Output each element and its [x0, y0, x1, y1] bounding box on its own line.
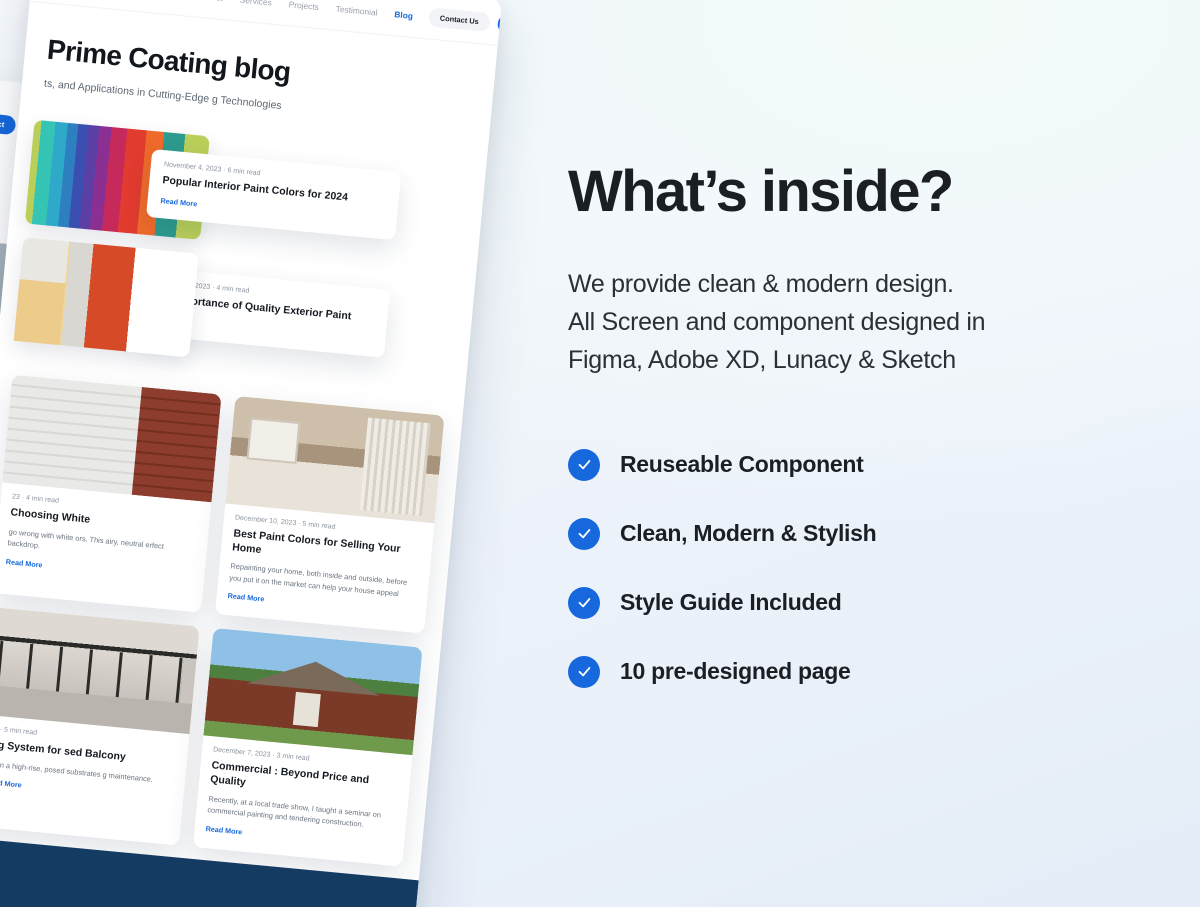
read-more-link[interactable]: Read More — [227, 591, 264, 603]
mockup-stage: Contact Us Book a Project 018 orings for — [0, 0, 530, 907]
feature-item-clean-modern-stylish: Clean, Modern & Stylish — [568, 518, 1168, 550]
nav-item-blog[interactable]: Blog — [394, 9, 413, 21]
copy-panel: What’s inside? We provide clean & modern… — [568, 162, 1168, 725]
read-more-link[interactable]: Read More — [6, 557, 43, 569]
headline: What’s inside? — [568, 162, 1168, 223]
post-card[interactable]: 23 · 4 min read Choosing White go wrong … — [0, 375, 222, 613]
check-icon — [568, 449, 600, 481]
subcopy-line: Figma, Adobe XD, Lunacy & Sketch — [568, 341, 1168, 379]
nav-cta-group: Contact Us Book a Project — [428, 7, 502, 39]
nav-item-about[interactable]: About — [201, 0, 224, 2]
feature-label: Reuseable Component — [620, 451, 864, 478]
nav-links: About Services Projects Testimonial Blog — [201, 0, 414, 20]
subcopy-line: All Screen and component designed in — [568, 303, 1168, 341]
secondary-book-a-project-button[interactable]: Book a Project — [0, 109, 16, 135]
read-more-link[interactable]: Read More — [0, 778, 22, 790]
balcony-facade-image — [0, 607, 200, 734]
check-icon — [568, 656, 600, 688]
book-a-project-button[interactable]: Book a Project — [497, 14, 502, 40]
feature-label: 10 pre-designed page — [620, 658, 850, 685]
subcopy: We provide clean & modern design. All Sc… — [568, 265, 1168, 379]
brick-house-image — [203, 628, 422, 755]
check-icon — [568, 518, 600, 550]
post-card[interactable]: December 7, 2023 · 3 min read Commercial… — [193, 628, 423, 866]
warm-paint-swatch-image — [14, 237, 199, 357]
read-more-link[interactable]: Read More — [160, 196, 197, 208]
page-root: Contact Us Book a Project 018 orings for — [0, 0, 1200, 907]
feature-item-style-guide-included: Style Guide Included — [568, 587, 1168, 619]
subcopy-line: We provide clean & modern design. — [568, 265, 1168, 303]
feature-item-10-pre-designed-page: 10 pre-designed page — [568, 656, 1168, 688]
post-card[interactable]: 23 · 5 min read ing System for sed Balco… — [0, 607, 200, 845]
read-more-link[interactable]: Read More — [205, 824, 242, 836]
brand-logo[interactable]: PRIME COATING — [49, 0, 172, 1]
living-room-image — [225, 396, 444, 523]
check-icon — [568, 587, 600, 619]
blog-post-grid: 23 · 4 min read Choosing White go wrong … — [0, 339, 466, 868]
white-brick-wall-image — [2, 375, 221, 502]
primary-browser-window: PRIME COATING About Services Projects Te… — [0, 0, 502, 907]
feature-item-reuseable-component: Reuseable Component — [568, 449, 1168, 481]
nav-item-projects[interactable]: Projects — [288, 0, 319, 12]
feature-label: Clean, Modern & Stylish — [620, 520, 876, 547]
feature-label: Style Guide Included — [620, 589, 842, 616]
post-card[interactable]: December 10, 2023 · 5 min read Best Pain… — [215, 396, 445, 634]
contact-us-button[interactable]: Contact Us — [428, 7, 491, 32]
nav-item-testimonial[interactable]: Testimonial — [335, 3, 378, 17]
nav-item-services[interactable]: Services — [239, 0, 272, 7]
feature-list: Reuseable Component Clean, Modern & Styl… — [568, 449, 1168, 688]
